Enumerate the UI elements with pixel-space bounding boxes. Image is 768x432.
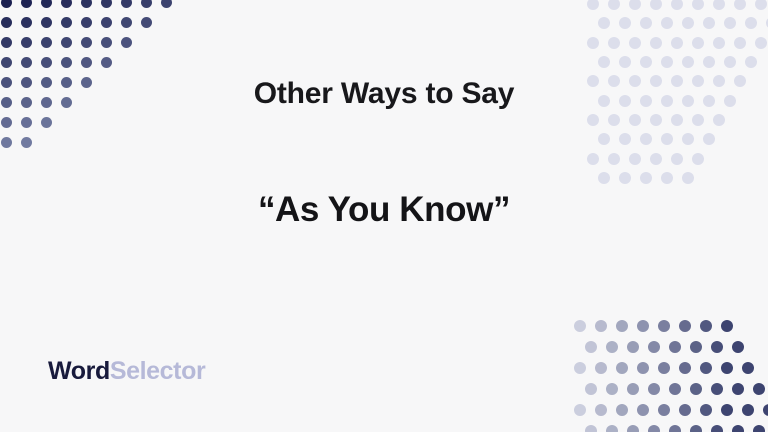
dot-pattern-bottom-right [525, 318, 768, 432]
brand-logo: WordSelector [48, 359, 205, 384]
brand-logo-word: Word [48, 357, 110, 385]
dot-pattern-top-left [0, 0, 210, 150]
page-title: Other Ways to Say [0, 79, 768, 109]
brand-logo-selector: Selector [110, 357, 205, 385]
slide-canvas: Other Ways to Say “As You Know” WordSele… [0, 0, 768, 432]
page-subtitle: “As You Know” [0, 192, 768, 227]
